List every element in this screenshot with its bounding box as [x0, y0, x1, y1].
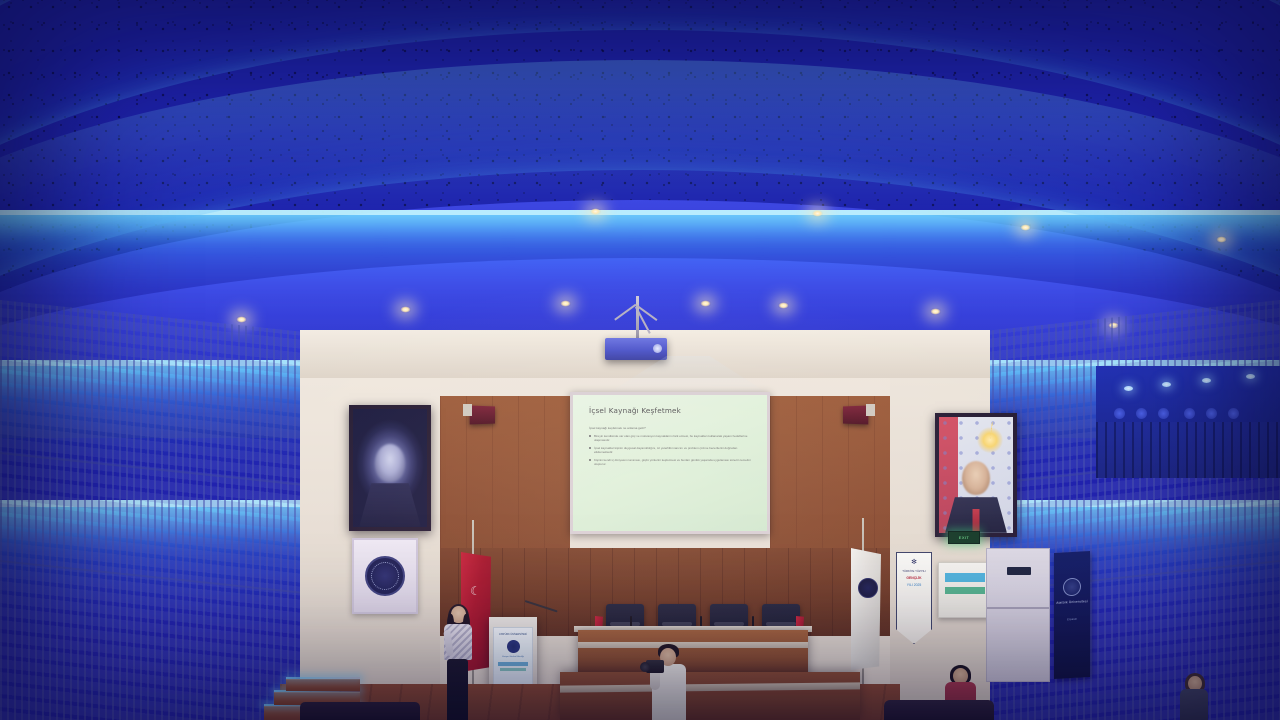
attendee-far-right: [1180, 676, 1210, 720]
ceiling-downlight: [236, 316, 247, 323]
gallery-porthole: [1206, 408, 1217, 419]
university-flag-seal-icon: [858, 578, 878, 598]
portrait-president-tie: [973, 509, 980, 533]
projector-lens-icon: [653, 344, 662, 353]
banner-line-2: Erzurum: [1054, 617, 1090, 622]
university-roll-up-banner: Atatürk Üniversitesi Erzurum: [1054, 551, 1090, 679]
projector-bracket: [612, 300, 664, 340]
photographer-person: [648, 644, 692, 720]
event-pennant-banner: ✻ TÜRKİYE YÜZYILI GENÇLİK YILI 2025: [896, 552, 932, 644]
portrait-president: [935, 413, 1017, 537]
camera-lens-icon: [640, 662, 650, 672]
university-seal-icon: [365, 556, 405, 596]
slide-bullet: Kişinin kendi iç dünyasını tanıması, güç…: [589, 458, 755, 467]
slide-title: İçsel Kaynağı Keşfetmek: [589, 406, 755, 415]
presentation-slide: İçsel Kaynağı Keşfetmek İçsel kaynağı ke…: [573, 395, 767, 531]
gallery-porthole: [1136, 408, 1147, 419]
left-acoustic-wall: [0, 300, 320, 720]
gallery-downlight: [1162, 382, 1171, 387]
slide-bullet: İçsel kaynaklar kişinin duygusal dayanık…: [589, 446, 755, 455]
exit-door[interactable]: [986, 548, 1050, 682]
poster-band-lower: [945, 587, 985, 594]
seal-ring: [371, 562, 399, 590]
banner-seal-icon: [1063, 578, 1081, 597]
ceiling-downlight: [1020, 224, 1031, 231]
ceiling-downlight: [590, 208, 601, 215]
banner-line-1: Atatürk Üniversitesi: [1054, 599, 1090, 605]
loudspeaker-right: [843, 406, 868, 425]
podium-display-screen: ATATÜRK ÜNİVERSİTESİ Kariyer Günleri Etk…: [493, 627, 533, 689]
podium-accent-bar-2: [500, 668, 526, 671]
loudspeaker-left: [470, 406, 495, 425]
portrait-president-face: [962, 461, 990, 495]
pennant-line-3: YILI 2025: [897, 583, 931, 587]
wall-poster: [938, 562, 992, 618]
foreground-seat: [884, 700, 994, 720]
step-led-strip: [286, 677, 360, 679]
ceiling-downlight: [1216, 236, 1227, 243]
attendee-body: [1180, 689, 1208, 720]
ceiling-projector: [605, 338, 667, 360]
foreground-seat: [300, 702, 420, 720]
ceiling-downlight: [812, 210, 823, 217]
door-sign-plate: [1007, 567, 1031, 575]
sun-burst-icon: [977, 427, 1003, 453]
gallery-downlight: [1246, 374, 1255, 379]
podium-logo-icon: [507, 640, 520, 653]
gallery-porthole: [1184, 408, 1195, 419]
framed-university-emblem: [352, 538, 418, 614]
portrait-ataturk-face: [375, 444, 405, 482]
gallery-downlight: [1124, 386, 1133, 391]
gallery-slat-wall: [1096, 422, 1280, 478]
ceiling-downlight: [778, 302, 789, 309]
upper-gallery: [1096, 366, 1280, 478]
gallery-downlight: [1202, 378, 1211, 383]
university-flag: [851, 548, 881, 670]
podium-screen-title: ATATÜRK ÜNİVERSİTESİ: [499, 634, 527, 637]
podium-screen-subtitle: Kariyer Günleri Etkinliği: [502, 656, 524, 658]
head-table: [578, 630, 808, 678]
slide-bullet-list: Bireyin kendisinde var olan güç ve motiv…: [589, 434, 755, 466]
projection-screen-frame: İçsel Kaynağı Keşfetmek İçsel kaynağı ke…: [570, 392, 770, 534]
poster-band-upper: [945, 573, 985, 582]
pennant-line-2: GENÇLİK: [897, 576, 931, 580]
portrait-ataturk-body: [359, 483, 421, 527]
presenter-person: [443, 606, 473, 720]
speaker-mount-left: [463, 404, 472, 416]
auditorium-scene: İçsel Kaynağı Keşfetmek İçsel kaynağı ke…: [0, 0, 1280, 720]
ceiling-downlight: [700, 300, 711, 307]
front-desk-rail: [560, 672, 860, 720]
speaker-mount-right: [866, 404, 875, 416]
pennant-mark-icon: ✻: [897, 559, 931, 566]
gallery-porthole: [1228, 408, 1239, 419]
portrait-ataturk: [349, 405, 431, 531]
ceiling-downlight: [930, 308, 941, 315]
presenter-trousers: [447, 659, 468, 720]
door-rail: [987, 607, 1049, 609]
ceiling-downlight: [560, 300, 571, 307]
slide-lead-text: İçsel kaynağı keşfetmek ne anlama gelir?: [589, 426, 755, 430]
pennant-line-1: TÜRKİYE YÜZYILI: [897, 569, 931, 573]
slide-bullet: Bireyin kendisinde var olan güç ve motiv…: [589, 434, 755, 443]
podium-accent-bar: [498, 662, 528, 666]
ceiling-downlight: [400, 306, 411, 313]
head-table-trim: [578, 642, 808, 648]
exit-sign-label: EXIT: [959, 535, 970, 540]
exit-sign: EXIT: [948, 531, 980, 544]
crescent-star-icon: ☾: [470, 585, 482, 597]
gallery-porthole: [1114, 408, 1125, 419]
gallery-porthole: [1158, 408, 1169, 419]
